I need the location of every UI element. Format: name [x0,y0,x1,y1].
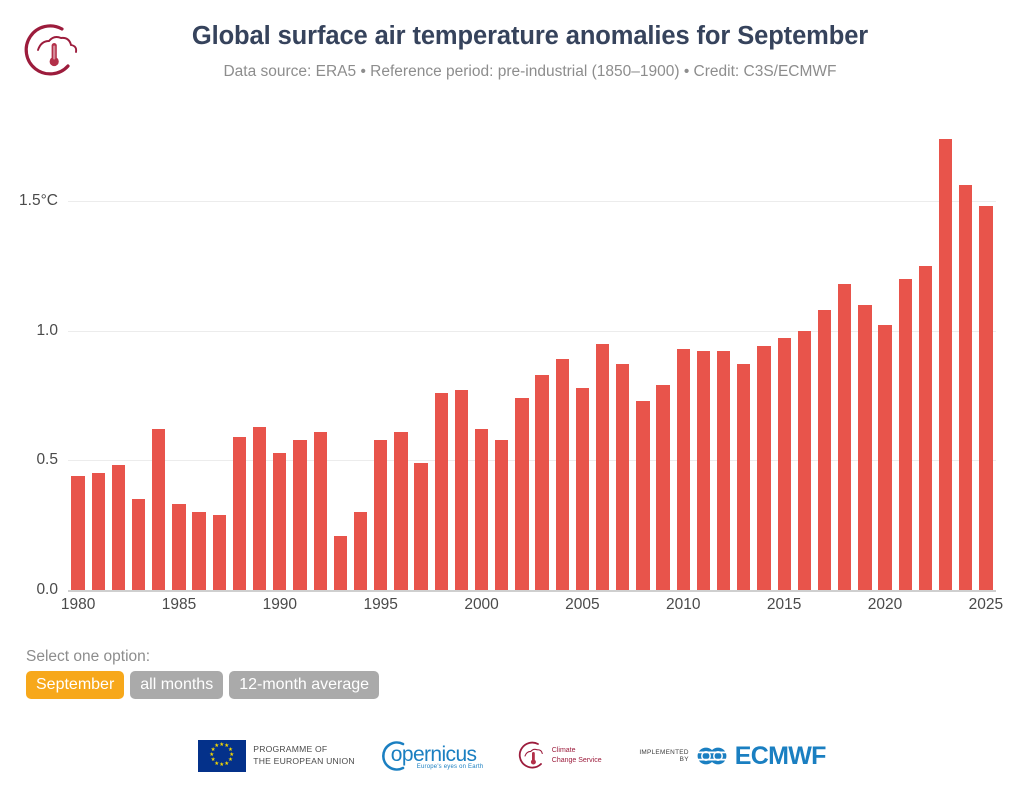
c3s-text-line2: Change Service [552,756,602,766]
bar-2001[interactable] [495,440,508,590]
copernicus-tagline: Europe's eyes on Earth [417,764,484,770]
implemented-by-label: IMPLEMENTED BY [637,749,689,763]
y-tick-label: 0.0 [36,581,58,599]
c3s-service-logo: Climate Change Service [515,739,611,773]
bar-2004[interactable] [556,359,569,590]
bar-2014[interactable] [757,346,770,590]
eu-star-icon: ★ [214,744,219,750]
bar-1982[interactable] [112,465,125,590]
c3s-logo-icon [18,20,80,82]
bar-1980[interactable] [71,476,84,590]
bar-2015[interactable] [778,338,791,590]
page-title: Global surface air temperature anomalies… [100,22,960,51]
bar-1996[interactable] [394,432,407,590]
bar-1994[interactable] [354,512,367,590]
x-tick-label: 1990 [263,596,297,614]
bar-2025[interactable] [979,206,992,590]
selector-prompt: Select one option: [26,648,626,666]
bar-2000[interactable] [475,429,488,590]
bar-1989[interactable] [253,427,266,590]
option-button-row: Septemberall months12-month average [26,671,626,699]
title-block: Global surface air temperature anomalies… [100,22,960,82]
eu-star-icon: ★ [209,753,214,759]
x-axis-line [68,590,996,592]
bar-1988[interactable] [233,437,246,590]
x-tick-label: 1980 [61,596,95,614]
bar-1981[interactable] [92,473,105,590]
c3s-text-line1: Climate [552,746,602,756]
bar-2024[interactable] [959,185,972,590]
x-tick-label: 2005 [565,596,599,614]
option-button-12-month-average[interactable]: 12-month average [229,671,379,699]
x-tick-label: 2015 [767,596,801,614]
bar-2022[interactable] [919,266,932,590]
bar-1995[interactable] [374,440,387,590]
y-tick-label: 0.5 [36,451,58,469]
bar-2003[interactable] [535,375,548,590]
ecmwf-logo: IMPLEMENTED BY ECMWF [637,742,826,771]
x-tick-label: 2020 [868,596,902,614]
bar-2013[interactable] [737,364,750,590]
bar-2023[interactable] [939,139,952,590]
bar-series [68,110,996,590]
bar-2002[interactable] [515,398,528,590]
option-button-september[interactable]: September [26,671,124,699]
chart-plot-area: 0.00.51.01.5°C 1980198519901995200020052… [0,110,1024,630]
plot-inner [68,110,996,590]
x-tick-label: 2000 [464,596,498,614]
x-tick-label: 1995 [363,596,397,614]
copernicus-logo: opernicus Europe's eyes on Earth [381,739,489,773]
bar-1987[interactable] [213,515,226,590]
option-selector: Select one option: Septemberall months12… [26,648,626,699]
bar-2009[interactable] [656,385,669,590]
ecmwf-globe-icon [695,744,729,768]
bar-2019[interactable] [858,305,871,590]
c3s-thermometer-icon [515,740,547,772]
eu-text-line2: THE EUROPEAN UNION [253,756,354,768]
chart-subtitle: Data source: ERA5 • Reference period: pr… [100,63,960,82]
bar-2012[interactable] [717,351,730,590]
bar-1991[interactable] [293,440,306,590]
bar-2010[interactable] [677,349,690,590]
bar-1983[interactable] [132,499,145,590]
eu-flag-icon: ★★★★★★★★★★★★ [198,740,246,772]
chart-page: Global surface air temperature anomalies… [0,0,1024,812]
eu-programme-text: PROGRAMME OF THE EUROPEAN UNION [253,744,354,767]
bar-2005[interactable] [576,388,589,590]
eu-star-icon: ★ [211,758,216,764]
x-axis-labels: 1980198519901995200020052010201520202025 [68,596,996,624]
bar-1992[interactable] [314,432,327,590]
bar-2007[interactable] [616,364,629,590]
bar-1997[interactable] [414,463,427,590]
y-tick-label: 1.5°C [19,192,58,210]
bar-2018[interactable] [838,284,851,590]
bar-2006[interactable] [596,344,609,590]
x-tick-label: 1985 [162,596,196,614]
eu-text-line1: PROGRAMME OF [253,744,354,756]
eu-star-icon: ★ [219,763,224,769]
bar-2017[interactable] [818,310,831,590]
ecmwf-wordmark: ECMWF [735,742,826,771]
option-button-all-months[interactable]: all months [130,671,223,699]
bar-2016[interactable] [798,331,811,590]
bar-1993[interactable] [334,536,347,590]
footer-logos: ★★★★★★★★★★★★ PROGRAMME OF THE EUROPEAN U… [0,726,1024,786]
y-axis-labels: 0.00.51.01.5°C [0,110,68,590]
bar-1990[interactable] [273,453,286,591]
x-tick-label: 2010 [666,596,700,614]
bar-2011[interactable] [697,351,710,590]
x-tick-label: 2025 [969,596,1003,614]
bar-1985[interactable] [172,504,185,590]
bar-1999[interactable] [455,390,468,590]
bar-2021[interactable] [899,279,912,590]
eu-programme-logo: ★★★★★★★★★★★★ PROGRAMME OF THE EUROPEAN U… [198,740,354,772]
eu-star-icon: ★ [224,762,229,768]
bar-1986[interactable] [192,512,205,590]
bar-1984[interactable] [152,429,165,590]
chart-header: Global surface air temperature anomalies… [0,0,1024,110]
bar-2008[interactable] [636,401,649,590]
bar-1998[interactable] [435,393,448,590]
bar-2020[interactable] [878,325,891,590]
y-tick-label: 1.0 [36,322,58,340]
